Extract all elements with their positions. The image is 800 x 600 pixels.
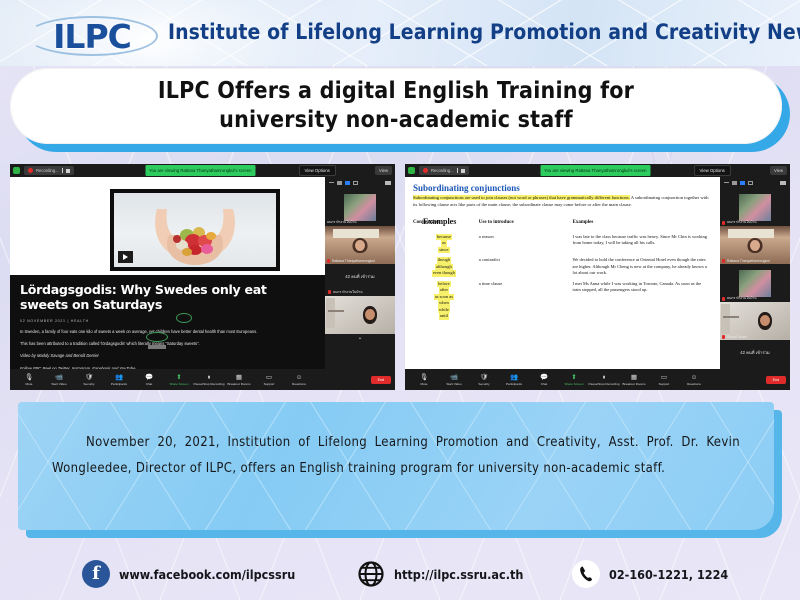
screenshot-zoom-grammar: Recording... You are viewing Rattana Tha… <box>405 164 790 390</box>
participant-name: Rattana Thanyathamrongkul <box>722 259 770 263</box>
person-face <box>365 309 375 320</box>
stop-icon <box>461 169 465 173</box>
screenshot-zoom-bbc: Recording... You are viewing Rattana Tha… <box>10 164 395 390</box>
toolbar-label: Share Screen <box>565 382 584 387</box>
chevron-down-icon[interactable]: ⌄ <box>325 334 395 342</box>
article-credit: Video by Maddy Savage and Benoît Derrier <box>20 353 315 359</box>
participant-name-text: Rattana Thanyathamrongkul <box>727 259 770 263</box>
background-window <box>728 229 774 238</box>
participant-tile[interactable]: ธนกร ทำงานในบ้าน <box>720 264 790 302</box>
cell-examples: I was late to the class because traffic … <box>551 230 712 254</box>
toolbar-item-support[interactable]: ▭ Support <box>254 373 284 387</box>
toolbar-item-support[interactable]: ▭ Support <box>649 373 679 387</box>
toolbar-item-chat[interactable]: 💬 Chat <box>529 373 559 387</box>
toolbar-label: Participants <box>111 382 127 387</box>
participant-name-text: Rattana Thanyathamrongkul <box>332 259 375 263</box>
footer-website-text: http://ilpc.ssru.ac.th <box>394 567 523 582</box>
view-options-button[interactable]: View Options <box>299 165 336 176</box>
cell-examples: I met Ms Anna while I was working in Tor… <box>551 277 712 320</box>
mic-muted-icon <box>722 259 725 263</box>
view-button[interactable]: View <box>375 166 392 175</box>
chat-icon: 💬 <box>540 373 548 382</box>
body-panel-wrap: November 20, 2021, Institution of Lifelo… <box>18 402 782 538</box>
toolbar-label: Pause/Stop Recording <box>194 382 225 387</box>
record-dot-icon <box>28 168 33 173</box>
participant-tile[interactable]: Rattana Thanyathamrongkul <box>720 226 790 264</box>
toolbar-item-security[interactable]: 🛡 Security <box>469 373 499 387</box>
toolbar-label: Start Video <box>446 382 461 387</box>
toolbar-label: Breakout Rooms <box>227 382 250 387</box>
grid-view-icon <box>748 181 753 185</box>
reactions-icon: ☺ <box>296 373 303 382</box>
microphone-icon: 🎙 <box>25 373 33 382</box>
mic-muted-icon <box>722 335 725 339</box>
gallery-view-icon <box>740 181 745 185</box>
toolbar-label: Breakout Rooms <box>622 382 645 387</box>
toolbar-label: Mute <box>26 382 33 387</box>
video-frame <box>114 193 276 267</box>
conjunction-word: since <box>438 247 449 254</box>
shared-screen-canvas: Lördagsgodis: Why Swedes only eat sweets… <box>10 177 325 369</box>
person-face <box>760 315 770 326</box>
toolbar-label: Security <box>83 382 94 387</box>
video-player[interactable] <box>110 189 280 271</box>
poster-page: ILPC Institute of Lifelong Learning Prom… <box>0 0 800 600</box>
video-off-icon: 📹 <box>55 373 63 382</box>
recording-pill[interactable]: Recording... <box>419 166 469 175</box>
recording-pill[interactable]: Recording... <box>24 166 74 175</box>
footer-website[interactable]: http://ilpc.ssru.ac.th <box>357 560 523 588</box>
cell-examples: We decided to hold the conference at Ori… <box>551 253 712 277</box>
zoom-toolbar: 🎙 Mute 📹 Start Video 🛡 Security 👥 Partic… <box>10 369 395 390</box>
mic-muted-icon <box>722 221 725 225</box>
hands-with-candy-image <box>149 205 241 267</box>
fullscreen-icon <box>385 181 391 185</box>
toolbar-label: Reactions <box>292 382 306 387</box>
banner-body: ILPC Offers a digital English Training f… <box>10 68 782 144</box>
participant-tile[interactable] <box>325 296 395 334</box>
recording-label: Recording... <box>36 166 59 175</box>
avatar <box>739 270 771 297</box>
toolbar-item-mute[interactable]: 🎙 Mute <box>14 373 44 387</box>
participant-name-text: ธนกร ทำงานในบ้าน <box>727 220 757 225</box>
page-header: ILPC Institute of Lifelong Learning Prom… <box>0 0 800 66</box>
participant-name-text: ธนกร ทำงานในบ้าน <box>727 296 757 301</box>
toolbar-label: Start Video <box>51 382 66 387</box>
footer-facebook-text: www.facebook.com/ilpcssru <box>119 567 295 582</box>
share-screen-icon: ⬆ <box>571 373 576 382</box>
background-window <box>333 229 379 238</box>
share-screen-icon: ⬆ <box>176 373 181 382</box>
reactions-icon: ☺ <box>691 373 698 382</box>
footer-contact-bar: f www.facebook.com/ilpcssru http://ilpc.… <box>0 548 800 600</box>
globe-icon <box>357 560 385 588</box>
view-button[interactable]: View <box>770 166 787 175</box>
participant-strip: ธนกร ทำงานในบ้าน Rattana Thanyathamrongk… <box>325 177 395 369</box>
minimize-icon <box>724 182 729 184</box>
article-headline: Lördagsgodis: Why Swedes only eat sweets… <box>20 283 315 313</box>
avatar <box>739 194 771 221</box>
zoom-toolbar: 🎙 Mute 📹 Start Video 🛡 Security 👥 Partic… <box>405 369 790 390</box>
end-meeting-button[interactable]: End <box>371 376 391 384</box>
bbc-article-page: Lördagsgodis: Why Swedes only eat sweets… <box>10 177 325 369</box>
cell-conjunctions: because as since <box>413 230 479 254</box>
background-door <box>326 298 335 328</box>
toolbar-item-start-video[interactable]: 📹 Start Video <box>439 373 469 387</box>
play-button[interactable] <box>118 251 133 263</box>
shield-icon: 🛡 <box>480 373 488 382</box>
stop-icon <box>66 169 70 173</box>
shield-icon: 🛡 <box>85 373 93 382</box>
conjunctions-table: Conjunction Use to introduce Examples be… <box>413 220 712 320</box>
mic-muted-icon <box>327 259 330 263</box>
toolbar-item-recording[interactable]: ⏸ Pause/Stop Recording <box>194 373 224 387</box>
body-paragraph: November 20, 2021, Institution of Lifelo… <box>18 402 774 482</box>
cell-use: a contradict <box>479 253 551 277</box>
toolbar-label: Reactions <box>687 382 701 387</box>
article-body: Lördagsgodis: Why Swedes only eat sweets… <box>10 275 325 369</box>
participant-name-text: ธนกร ทำงานในบ้าน <box>333 290 363 295</box>
toolbar-item-reactions[interactable]: ☺ Reactions <box>679 373 709 387</box>
participant-count: 42 คนที่ เข้าร่วม <box>720 340 790 364</box>
article-paragraph-2: This has been attributed to a tradition … <box>20 341 315 347</box>
toolbar-item-share-screen[interactable]: ⬆ Share Screen <box>559 373 589 387</box>
zoom-top-bar: Recording... You are viewing Rattana Tha… <box>405 164 790 177</box>
toolbar-label: Chat <box>541 382 548 387</box>
gallery-view-icon <box>345 181 350 185</box>
person-face <box>750 240 760 251</box>
grid-icon: ▦ <box>236 373 242 382</box>
toolbar-item-participants[interactable]: 👥 Participants <box>104 373 134 387</box>
view-options-button[interactable]: View Options <box>694 165 731 176</box>
toolbar-item-breakout-rooms[interactable]: ▦ Breakout Rooms <box>619 373 649 387</box>
strip-controls[interactable] <box>720 177 790 188</box>
participant-name: ธนกร ทำงานในบ้าน <box>327 220 357 225</box>
article-meta: 02 NOVEMBER 2021 | HEALTH <box>20 319 315 323</box>
annotation-bar <box>148 345 166 349</box>
phone-icon <box>572 560 600 588</box>
toolbar-label: Participants <box>506 382 522 387</box>
chat-icon: 💬 <box>145 373 153 382</box>
toolbar-item-security[interactable]: 🛡 Security <box>74 373 104 387</box>
support-icon: ▭ <box>266 373 272 382</box>
participant-name: Sirorat Suarn <box>722 335 747 339</box>
table-row: before after as soon as when while until… <box>413 277 712 320</box>
grammar-document: Subordinating conjunctions Subordinating… <box>405 177 720 369</box>
participant-tile[interactable]: Sirorat Suarn <box>720 302 790 340</box>
document-heading: Subordinating conjunctions <box>413 183 712 193</box>
facebook-icon: f <box>82 560 110 588</box>
cell-use: a time clause <box>479 277 551 320</box>
toolbar-item-participants[interactable]: 👥 Participants <box>499 373 529 387</box>
conjunction-word: even though <box>432 270 456 277</box>
table-row: though although even though a contradict… <box>413 253 712 277</box>
footer-phone[interactable]: 02-160-1221, 1224 <box>572 560 728 588</box>
participant-name: ธนกร ทำงานในบ้าน <box>722 296 757 301</box>
toolbar-item-chat[interactable]: 💬 Chat <box>134 373 164 387</box>
toolbar-item-start-video[interactable]: 📹 Start Video <box>44 373 74 387</box>
people-icon: 👥 <box>510 373 518 382</box>
cell-conjunctions: though although even though <box>413 253 479 277</box>
avatar <box>344 194 376 221</box>
title-banner: ILPC Offers a digital English Training f… <box>10 68 790 152</box>
recording-label: Recording... <box>431 166 454 175</box>
speaker-view-icon <box>732 181 737 185</box>
footer-facebook[interactable]: f www.facebook.com/ilpcssru <box>82 560 295 588</box>
intro-highlight: Subordinating conjunctions are used to j… <box>413 195 630 200</box>
banner-line-1: ILPC Offers a digital English Training f… <box>158 77 634 106</box>
participant-count: 42 คนที่ เข้าร่วม <box>325 264 395 288</box>
end-meeting-button[interactable]: End <box>766 376 786 384</box>
banner-line-2: university non-academic staff <box>219 106 573 135</box>
cell-use: a reason <box>479 230 551 254</box>
logo-text: ILPC <box>53 17 131 56</box>
toolbar-item-recording[interactable]: ⏸ Pause/Stop Recording <box>589 373 619 387</box>
annotation-circle-which <box>146 332 168 342</box>
toolbar-label: Security <box>478 382 489 387</box>
participant-tile[interactable]: ธนกร ทำงานในบ้าน <box>325 188 395 226</box>
toolbar-label: Support <box>264 382 275 387</box>
participant-tile[interactable]: ธนกร ทำงานในบ้าน <box>720 188 790 226</box>
participant-strip: ธนกร ทำงานในบ้าน Rattana Thanyathamrongk… <box>720 177 790 369</box>
document-intro: Subordinating conjunctions are used to j… <box>413 195 712 209</box>
play-icon <box>123 254 128 260</box>
body-panel: November 20, 2021, Institution of Lifelo… <box>18 402 774 530</box>
pause-icon <box>457 168 459 173</box>
mic-muted-icon <box>328 290 331 294</box>
participant-name: Rattana Thanyathamrongkul <box>327 259 375 263</box>
support-icon: ▭ <box>661 373 667 382</box>
participant-label-row: ธนกร ทำงานในบ้าน <box>325 288 395 296</box>
background-shelf <box>328 310 344 312</box>
footer-phone-text: 02-160-1221, 1224 <box>609 567 728 582</box>
ilpc-logo: ILPC <box>26 16 158 56</box>
grid-icon: ▦ <box>631 373 637 382</box>
record-icon: ⏸ <box>207 373 210 382</box>
record-dot-icon <box>423 168 428 173</box>
participant-tile[interactable]: Rattana Thanyathamrongkul <box>325 226 395 264</box>
participant-name-text: Sirorat Suarn <box>727 335 747 339</box>
fullscreen-icon <box>780 181 786 185</box>
microphone-icon: 🎙 <box>420 373 428 382</box>
toolbar-item-breakout-rooms[interactable]: ▦ Breakout Rooms <box>224 373 254 387</box>
header-title: Institute of Lifelong Learning Promotion… <box>168 20 800 44</box>
participant-name: ธนกร ทำงานในบ้าน <box>722 220 757 225</box>
column-header-use: Use to introduce <box>479 220 551 230</box>
annotation-circle-yet <box>176 313 192 323</box>
recording-indicator-icon <box>408 167 415 174</box>
table-row: because as since a reason I was late to … <box>413 230 712 254</box>
video-off-icon: 📹 <box>450 373 458 382</box>
grid-view-icon <box>353 181 358 185</box>
toolbar-item-mute[interactable]: 🎙 Mute <box>409 373 439 387</box>
pause-icon <box>62 168 64 173</box>
toolbar-label: Mute <box>421 382 428 387</box>
cell-conjunctions: before after as soon as when while until <box>413 277 479 320</box>
column-header-examples: Examples <box>551 220 712 230</box>
mic-muted-icon <box>722 297 725 301</box>
strip-controls[interactable] <box>325 177 395 188</box>
toolbar-item-reactions[interactable]: ☺ Reactions <box>284 373 314 387</box>
record-icon: ⏸ <box>602 373 605 382</box>
toolbar-item-share-screen[interactable]: ⬆ Share Screen <box>164 373 194 387</box>
screenshot-row: Recording... You are viewing Rattana Tha… <box>10 164 790 390</box>
toolbar-label: Share Screen <box>170 382 189 387</box>
zoom-top-bar: Recording... You are viewing Rattana Tha… <box>10 164 395 177</box>
viewing-banner: You are viewing Rattana Thanyathamrongku… <box>145 165 256 176</box>
recording-indicator-icon <box>13 167 20 174</box>
toolbar-label: Support <box>659 382 670 387</box>
toolbar-label: Pause/Stop Recording <box>589 382 620 387</box>
minimize-icon <box>329 182 334 184</box>
background-shelf <box>723 316 739 318</box>
toolbar-label: Chat <box>146 382 153 387</box>
people-icon: 👥 <box>115 373 123 382</box>
article-paragraph-1: In Sweden, a family of four eats one kil… <box>20 329 315 335</box>
viewing-banner: You are viewing Rattana Thanyathamrongku… <box>540 165 651 176</box>
shared-screen-canvas: Subordinating conjunctions Subordinating… <box>405 177 720 369</box>
speaker-view-icon <box>337 181 342 185</box>
background-door <box>721 304 730 334</box>
conjunction-word: until <box>439 313 449 320</box>
person-face <box>355 240 365 251</box>
table-header-row: Conjunction Use to introduce Examples <box>413 220 712 230</box>
